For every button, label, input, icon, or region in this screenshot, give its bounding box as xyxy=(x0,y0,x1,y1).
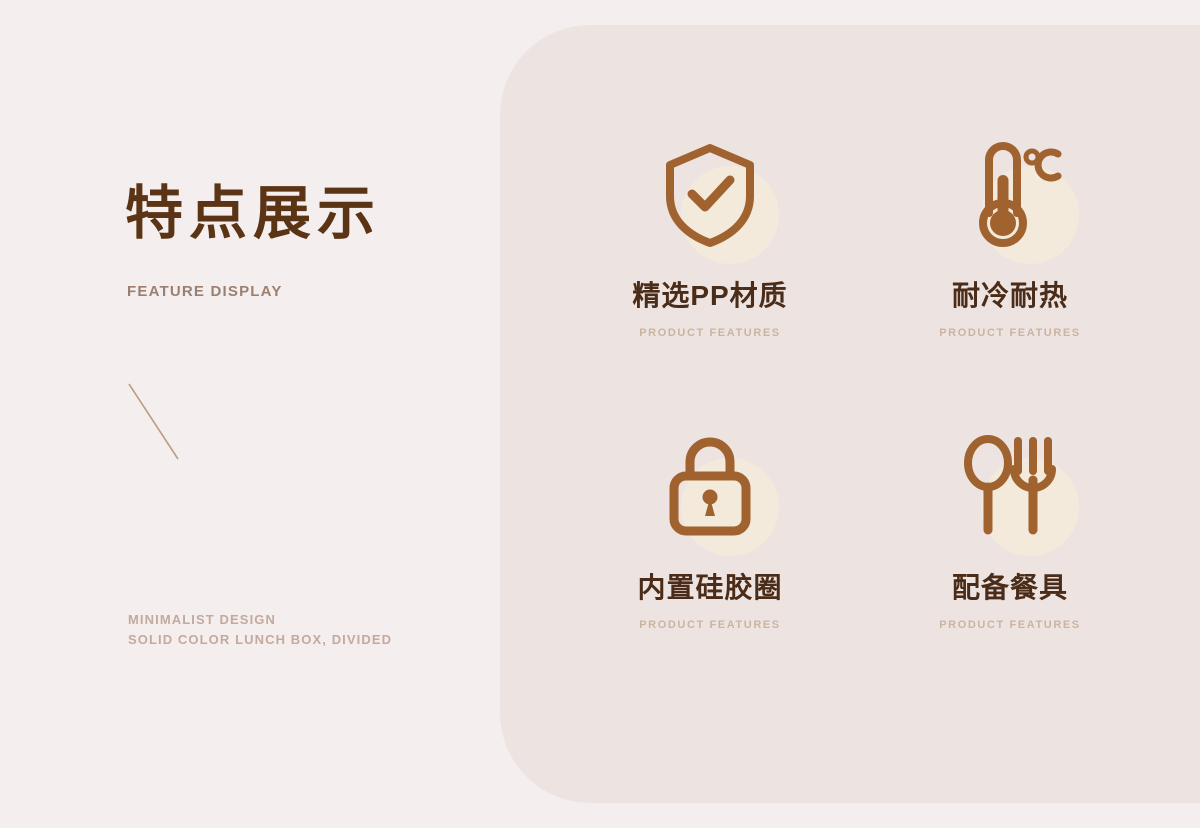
feature-grid: 精选PP材质 PRODUCT FEATURES 耐冷耐热 xyxy=(560,120,1160,704)
feature-card-pp-material[interactable]: 精选PP材质 PRODUCT FEATURES xyxy=(560,120,860,412)
feature-card-cutlery[interactable]: 配备餐具 PRODUCT FEATURES xyxy=(860,412,1160,704)
padlock-icon xyxy=(662,435,758,539)
feature-caption: PRODUCT FEATURES xyxy=(939,619,1081,631)
shield-check-icon xyxy=(662,141,758,249)
footer-note: MINIMALIST DESIGN SOLID COLOR LUNCH BOX,… xyxy=(128,610,392,650)
page-title: 特点展示 xyxy=(125,185,381,243)
feature-title: 精选PP材质 xyxy=(632,282,787,310)
feature-caption: PRODUCT FEATURES xyxy=(639,619,781,631)
diagonal-accent-line xyxy=(128,383,180,461)
feature-caption: PRODUCT FEATURES xyxy=(939,327,1081,339)
footer-note-line-1: MINIMALIST DESIGN xyxy=(128,610,392,630)
thermometer-celsius-icon xyxy=(958,139,1062,251)
icon-wrap xyxy=(935,120,1085,270)
feature-display-page: 特点展示 FEATURE DISPLAY MINIMALIST DESIGN S… xyxy=(0,0,1200,828)
spoon-fork-icon xyxy=(958,435,1062,539)
icon-wrap xyxy=(635,412,785,562)
feature-title: 配备餐具 xyxy=(952,574,1068,602)
feature-title: 耐冷耐热 xyxy=(952,282,1068,310)
page-subtitle: FEATURE DISPLAY xyxy=(127,283,283,300)
icon-wrap xyxy=(635,120,785,270)
footer-note-line-2: SOLID COLOR LUNCH BOX, DIVIDED xyxy=(128,630,392,650)
feature-card-temperature[interactable]: 耐冷耐热 PRODUCT FEATURES xyxy=(860,120,1160,412)
feature-card-silicone-ring[interactable]: 内置硅胶圈 PRODUCT FEATURES xyxy=(560,412,860,704)
feature-title: 内置硅胶圈 xyxy=(637,574,782,602)
feature-caption: PRODUCT FEATURES xyxy=(639,327,781,339)
icon-wrap xyxy=(935,412,1085,562)
left-column: 特点展示 FEATURE DISPLAY MINIMALIST DESIGN S… xyxy=(0,0,500,828)
